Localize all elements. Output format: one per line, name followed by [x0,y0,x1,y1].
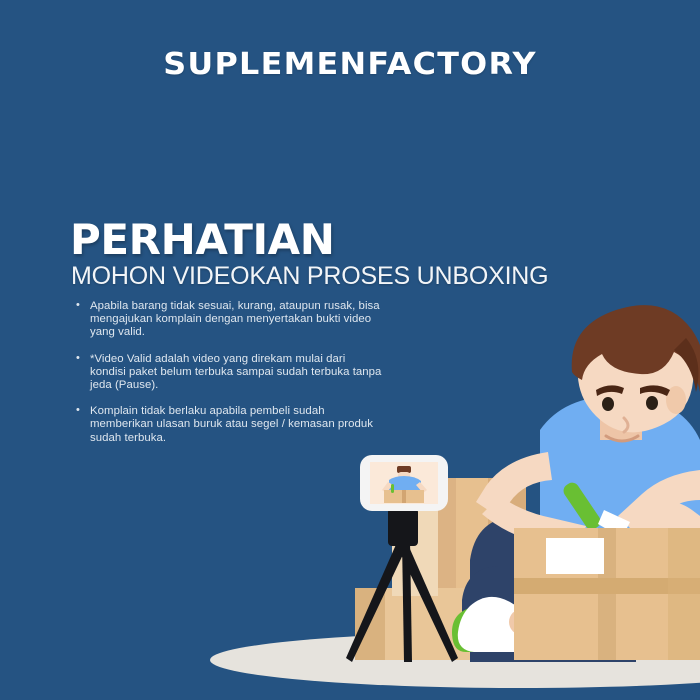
phone-screen-preview [370,462,438,504]
poster: SUPLEMENFACTORY PERHATIAN MOHON VIDEOKAN… [0,0,700,700]
list-item: *Video Valid adalah video yang direkam m… [74,353,384,393]
eye-right-icon [646,396,658,410]
main-cardboard-box [514,528,700,660]
page-title: PERHATIAN [70,219,335,261]
eye-left-icon [602,397,614,411]
shipping-label [546,538,604,574]
page-subtitle: MOHON VIDEOKAN PROSES UNBOXING [71,264,548,289]
list-item: Apabila barang tidak sesuai, kurang, ata… [74,300,384,340]
phone-on-tripod [360,455,448,511]
list-item: Komplain tidak berlaku apabila pembeli s… [74,405,384,445]
brand-logo: SUPLEMENFACTORY [0,47,700,82]
notice-list: Apabila barang tidak sesuai, kurang, ata… [74,300,384,458]
